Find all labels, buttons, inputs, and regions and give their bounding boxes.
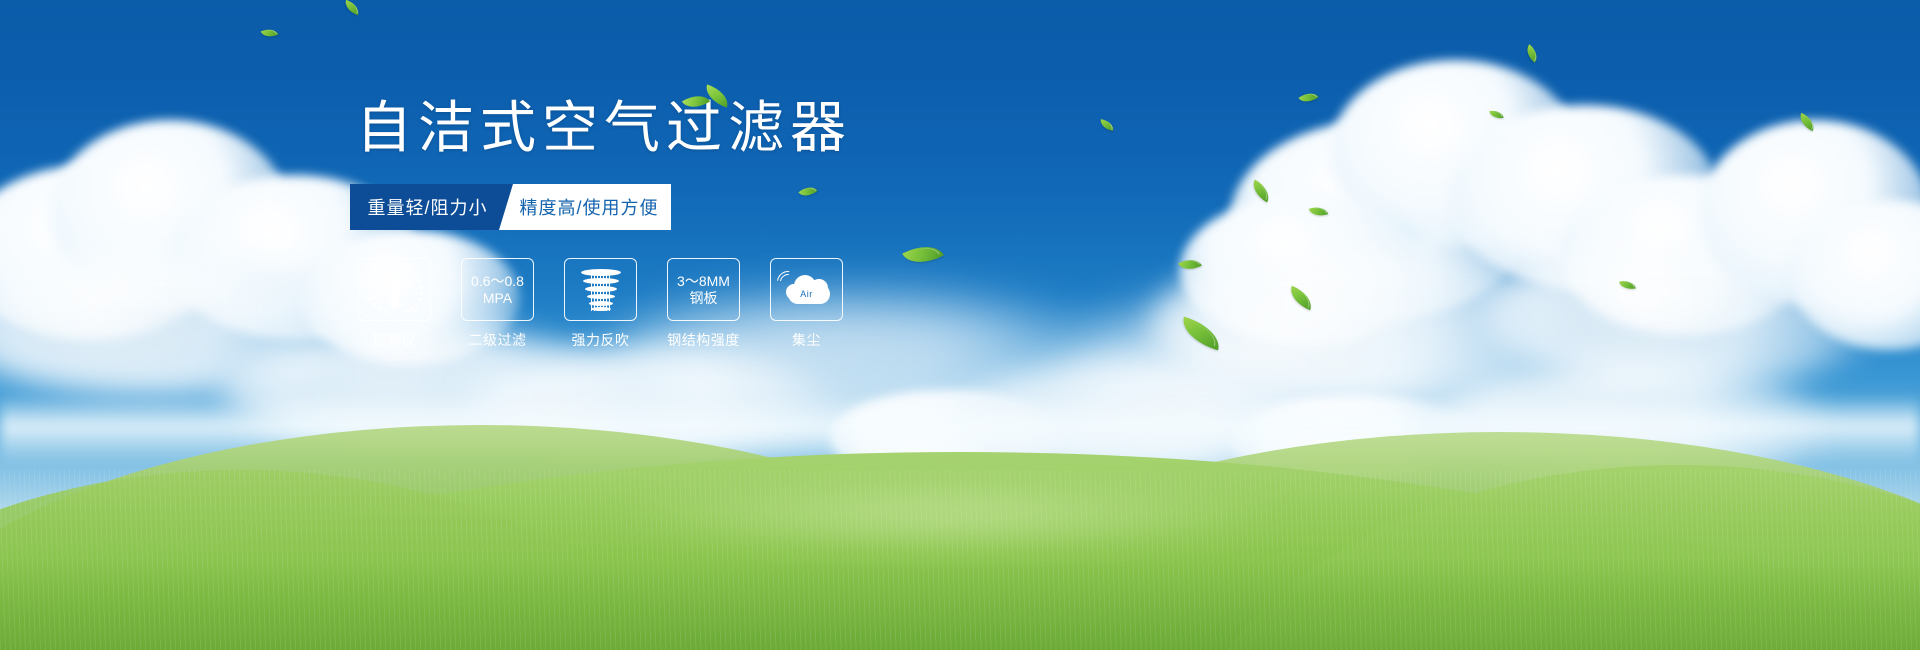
feature-box-blowback	[564, 258, 637, 321]
grass-light-patch	[600, 480, 1300, 550]
air-cloud-label: Air	[780, 289, 834, 299]
gauge-label-off: OFF	[408, 308, 419, 314]
feature-label-strong-blowback: 强力反吹	[552, 330, 649, 350]
gauge-icon: NO OFF	[367, 265, 423, 315]
leaf-icon	[682, 89, 710, 114]
feature-item-secondary-filter[interactable]: 0.6～0.8 MPA 二级过滤	[461, 258, 534, 350]
feature-item-strong-blowback[interactable]: 强力反吹	[564, 258, 637, 350]
product-banner: 自洁式空气过滤器 重量轻/阻力小 精度高/使用方便	[0, 0, 1920, 650]
steel-material: 钢板	[677, 290, 730, 307]
feature-icon-row: NO OFF 控制仪 0.6～0.8 MPA 二级过滤	[350, 258, 1110, 350]
feature-tag-group: 重量轻/阻力小 精度高/使用方便	[350, 184, 671, 230]
feature-item-dust-collection[interactable]: Air 集尘	[770, 258, 843, 350]
steel-thickness: 3～8MM	[677, 273, 730, 290]
pressure-unit: MPA	[471, 290, 524, 307]
feature-box-controller: NO OFF	[358, 258, 431, 321]
steel-plate-icon: 3～8MM 钢板	[677, 273, 730, 307]
feature-box-pressure: 0.6～0.8 MPA	[461, 258, 534, 321]
feature-box-steel-plate: 3～8MM 钢板	[667, 258, 740, 321]
tag-highprecision-easyuse[interactable]: 精度高/使用方便	[499, 184, 671, 230]
leaf-icon	[702, 84, 732, 107]
air-cloud-icon: Air	[780, 270, 834, 310]
tag-lightweight-lowresistance[interactable]: 重量轻/阻力小	[350, 184, 513, 230]
feature-label-controller: 控制仪	[346, 330, 443, 350]
feature-label-secondary-filter: 二级过滤	[449, 330, 546, 350]
gauge-label-no: NO	[366, 297, 374, 303]
title-leaf-decoration	[680, 84, 736, 124]
banner-content: 自洁式空气过滤器 重量轻/阻力小 精度高/使用方便	[350, 100, 1110, 350]
coil-blow-icon	[581, 267, 621, 313]
pressure-value: 0.6～0.8	[471, 273, 524, 290]
pressure-icon: 0.6～0.8 MPA	[471, 273, 524, 307]
feature-box-air-cloud: Air	[770, 258, 843, 321]
feature-item-controller[interactable]: NO OFF 控制仪	[358, 258, 431, 350]
feature-label-steel-strength: 钢结构强度	[655, 330, 752, 350]
feature-label-dust-collection: 集尘	[758, 330, 855, 350]
feature-item-steel-strength[interactable]: 3～8MM 钢板 钢结构强度	[667, 258, 740, 350]
